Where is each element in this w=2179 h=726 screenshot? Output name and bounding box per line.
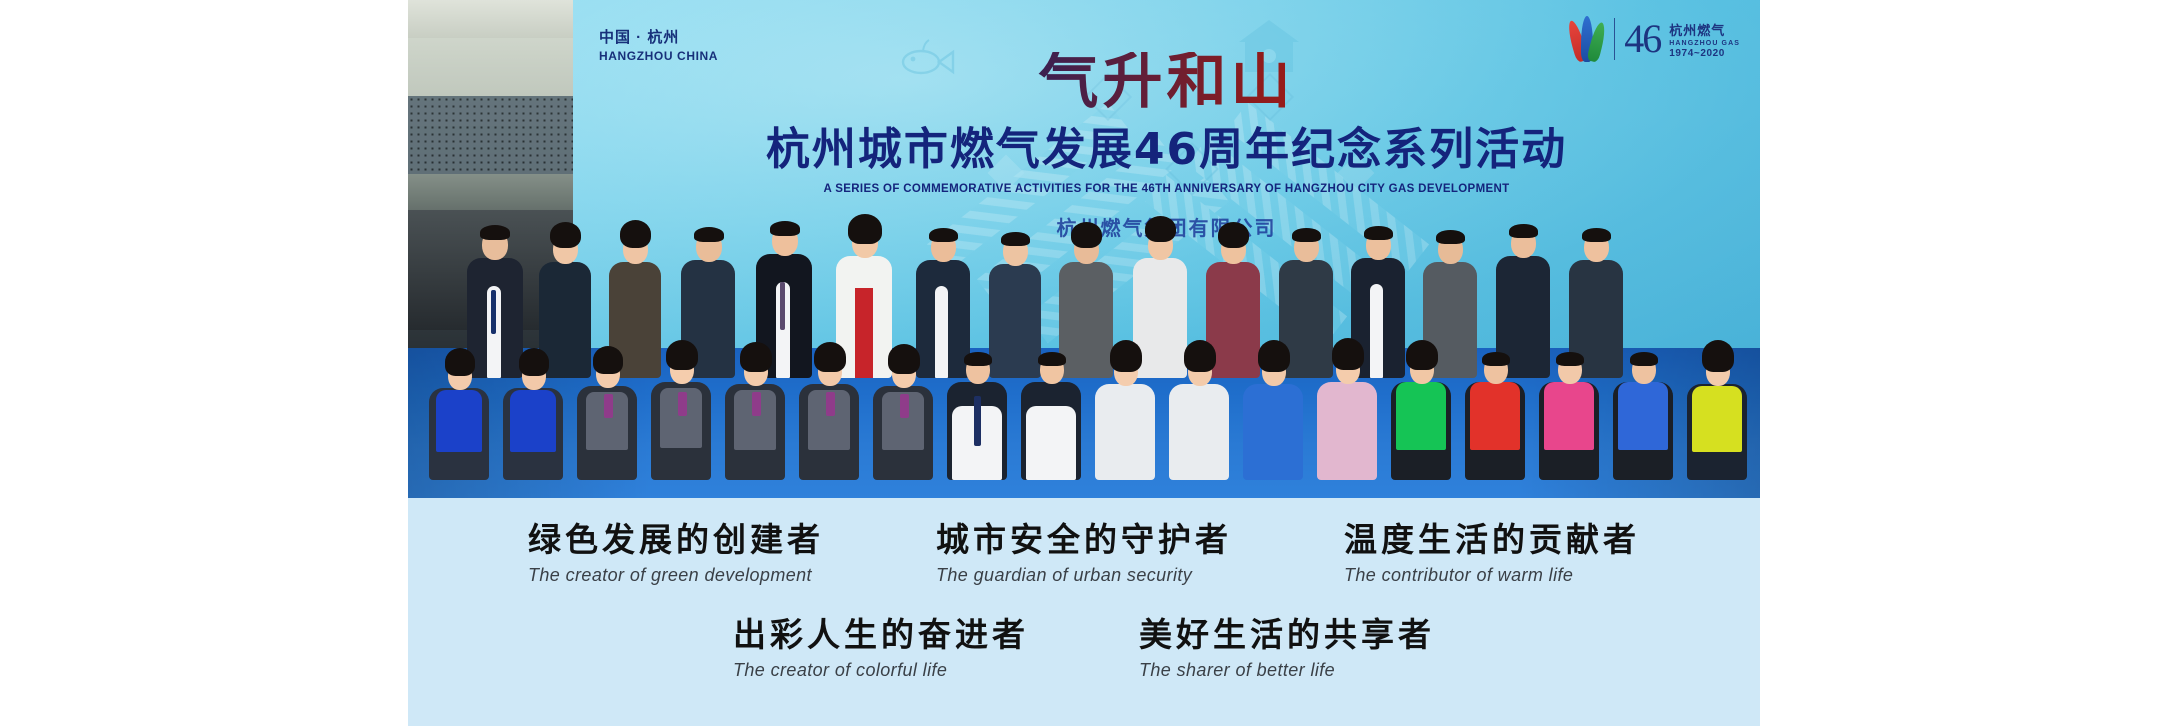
person bbox=[1240, 342, 1306, 480]
slogan-row-1: 绿色发展的创建者 The creator of green developmen… bbox=[408, 521, 1760, 586]
person bbox=[1536, 340, 1602, 480]
person bbox=[1462, 340, 1528, 480]
person bbox=[1388, 340, 1454, 480]
person bbox=[426, 346, 492, 480]
slogan-en: The sharer of better life bbox=[1139, 660, 1435, 681]
slogan-cn: 出彩人生的奋进者 bbox=[733, 616, 1029, 655]
slogan-item: 绿色发展的创建者 The creator of green developmen… bbox=[528, 521, 824, 586]
person bbox=[1314, 340, 1380, 480]
person bbox=[1684, 342, 1750, 480]
logo-company-en: HANGZHOU GAS bbox=[1669, 40, 1740, 47]
person bbox=[722, 342, 788, 480]
person bbox=[796, 342, 862, 480]
person bbox=[648, 340, 714, 480]
person bbox=[1018, 340, 1084, 480]
location-label-cn: 中国 · 杭州 bbox=[599, 26, 679, 47]
slogan-row-2: 出彩人生的奋进者 The creator of colorful life 美好… bbox=[408, 616, 1760, 681]
slogan-item: 城市安全的守护者 The guardian of urban security bbox=[936, 521, 1232, 586]
person bbox=[1166, 342, 1232, 480]
slogan-cn: 美好生活的共享者 bbox=[1139, 616, 1435, 655]
slogan-en: The contributor of warm life bbox=[1344, 565, 1640, 586]
artistic-title: 气升和山 bbox=[573, 52, 1760, 112]
person bbox=[574, 344, 640, 480]
person bbox=[1610, 340, 1676, 480]
crowd-of-people bbox=[408, 168, 1760, 498]
person bbox=[1092, 342, 1158, 480]
slogan-cn: 城市安全的守护者 bbox=[936, 521, 1232, 560]
person bbox=[870, 344, 936, 480]
page-root: 中国 · 杭州 HANGZHOU CHINA 46 杭州燃气 HANGZHOU … bbox=[0, 0, 2179, 726]
logo-company-cn: 杭州燃气 bbox=[1669, 20, 1740, 39]
slogan-item: 美好生活的共享者 The sharer of better life bbox=[1139, 616, 1435, 681]
slogan-item: 温度生活的贡献者 The contributor of warm life bbox=[1344, 521, 1640, 586]
slogan-en: The creator of colorful life bbox=[733, 660, 1029, 681]
person bbox=[944, 340, 1010, 480]
slogan-cn: 绿色发展的创建者 bbox=[528, 521, 824, 560]
slogan-item: 出彩人生的奋进者 The creator of colorful life bbox=[733, 616, 1029, 681]
banner-main-title: 杭州城市燃气发展46周年纪念系列活动 bbox=[573, 128, 1760, 172]
slogan-cn: 温度生活的贡献者 bbox=[1344, 521, 1640, 560]
slogan-en: The guardian of urban security bbox=[936, 565, 1232, 586]
slogan-panel: 绿色发展的创建者 The creator of green developmen… bbox=[408, 498, 1760, 726]
person bbox=[500, 346, 566, 480]
group-photo: 中国 · 杭州 HANGZHOU CHINA 46 杭州燃气 HANGZHOU … bbox=[408, 0, 1760, 498]
slogan-en: The creator of green development bbox=[528, 565, 824, 586]
